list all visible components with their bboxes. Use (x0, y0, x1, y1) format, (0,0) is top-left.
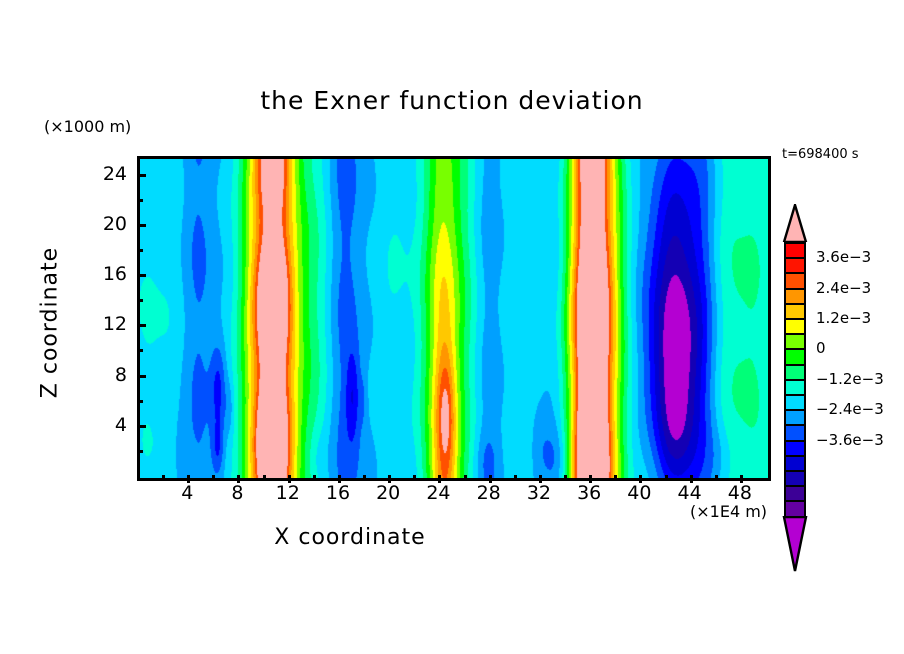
x-axis-tick-label: 28 (477, 482, 501, 504)
x-axis-tick-label: 20 (376, 482, 400, 504)
x-axis-minor-tick (614, 475, 617, 480)
colorbar-tick-label: −2.4e−3 (816, 400, 884, 418)
x-axis-minor-tick (665, 475, 668, 480)
x-axis-tick-label: 8 (231, 482, 243, 504)
y-axis-tick (137, 324, 146, 327)
y-axis-unit-label: (×1000 m) (44, 117, 131, 136)
colorbar-over-arrow (781, 204, 809, 242)
contour-canvas (140, 159, 768, 478)
y-axis-minor-tick (137, 249, 143, 252)
x-axis-minor-tick (162, 475, 165, 480)
colorbar-tick-label: −3.6e−3 (816, 431, 884, 449)
y-axis-minor-tick (137, 450, 143, 453)
x-axis-minor-tick (514, 475, 517, 480)
y-axis-tick-label: 12 (103, 313, 127, 335)
y-axis-minor-tick (137, 349, 143, 352)
x-axis-unit-label: (×1E4 m) (690, 502, 767, 521)
y-axis-minor-tick (137, 199, 143, 202)
y-axis-tick-label: 4 (115, 414, 127, 436)
x-axis-minor-tick (413, 475, 416, 480)
colorbar-tick-label: 3.6e−3 (816, 248, 871, 266)
y-axis-tick-label: 8 (115, 364, 127, 386)
y-axis-tick (137, 224, 146, 227)
x-axis-tick-label: 44 (678, 482, 702, 504)
x-axis-minor-tick (564, 475, 567, 480)
x-axis-tick-label: 16 (326, 482, 350, 504)
x-axis-title: X coordinate (0, 525, 700, 550)
colorbar-tick-label: −1.2e−3 (816, 370, 884, 388)
y-axis-tick-label: 24 (103, 163, 127, 185)
y-axis-tick (137, 274, 146, 277)
y-axis-tick-label: 20 (103, 213, 127, 235)
colorbar-tick-label: 2.4e−3 (816, 279, 871, 297)
colorbar-tick-label: 0 (816, 339, 826, 357)
x-axis-tick-label: 32 (527, 482, 551, 504)
x-axis-minor-tick (313, 475, 316, 480)
x-axis-tick-label: 48 (728, 482, 752, 504)
y-axis-tick (137, 425, 146, 428)
colorbar-under-arrow (781, 516, 809, 572)
x-axis-tick-label: 4 (181, 482, 193, 504)
x-axis-minor-tick (263, 475, 266, 480)
y-axis-minor-tick (137, 299, 143, 302)
y-axis-tick-label: 16 (103, 263, 127, 285)
timestamp-annotation: t=698400 s (782, 147, 859, 162)
x-axis-tick-label: 40 (627, 482, 651, 504)
colorbar (781, 204, 809, 519)
colorbar-tick-label: 1.2e−3 (816, 309, 871, 327)
x-axis-tick-label: 24 (426, 482, 450, 504)
y-axis-minor-tick (137, 400, 143, 403)
y-axis-title: Z coordinate (38, 213, 63, 433)
contour-field (140, 159, 768, 478)
page-title: the Exner function deviation (0, 86, 904, 115)
x-axis-minor-tick (212, 475, 215, 480)
contour-plot-area (137, 156, 771, 481)
x-axis-tick-label: 12 (276, 482, 300, 504)
x-axis-minor-tick (363, 475, 366, 480)
x-axis-minor-tick (464, 475, 467, 480)
y-axis-tick (137, 174, 146, 177)
y-axis-tick (137, 375, 146, 378)
x-axis-minor-tick (715, 475, 718, 480)
x-axis-tick-label: 36 (577, 482, 601, 504)
